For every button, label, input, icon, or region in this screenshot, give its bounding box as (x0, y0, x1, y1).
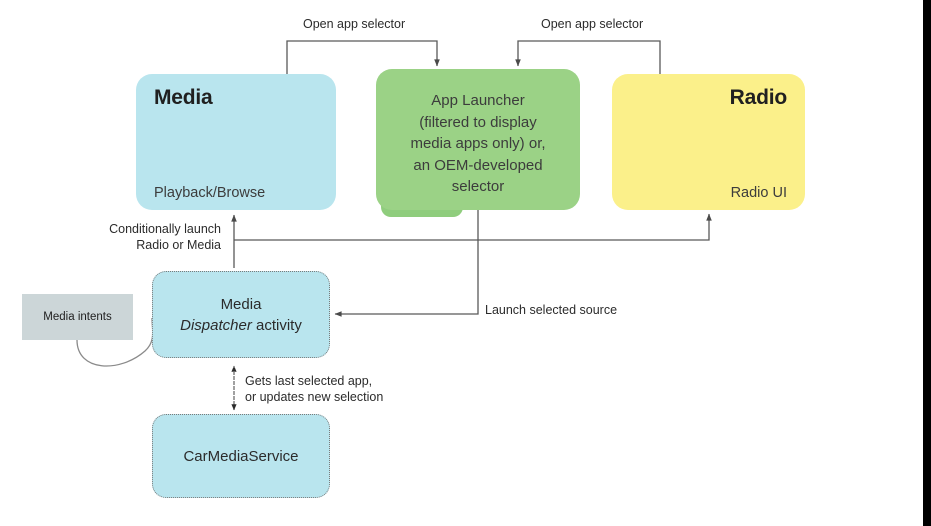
diagram-canvas: Media App Selector button Playback/Brows… (0, 0, 931, 526)
label-gets-last-line-2: or updates new selection (245, 389, 383, 405)
node-car-media-service[interactable]: CarMediaService (152, 414, 330, 498)
dispatcher-line-1: Media (180, 294, 302, 315)
node-media-dispatcher-activity[interactable]: Media Dispatcher activity (152, 271, 330, 358)
label-open-app-selector-right: Open app selector (541, 17, 643, 33)
node-app-launcher[interactable]: App Launcher (filtered to display media … (376, 69, 580, 210)
radio-title: Radio (730, 86, 787, 110)
node-radio-app[interactable]: App Selector button Radio Radio UI (612, 74, 805, 210)
label-conditionally-launch-line-1: Conditionally launch (16, 221, 221, 237)
radio-footer-label: Radio UI (731, 185, 787, 201)
launcher-line-5: selector (384, 176, 572, 198)
launcher-description: App Launcher (filtered to display media … (384, 90, 572, 198)
launcher-line-1: App Launcher (384, 90, 572, 112)
launcher-line-2: (filtered to display (384, 112, 572, 134)
media-footer-label: Playback/Browse (154, 185, 265, 201)
label-gets-last-line-1: Gets last selected app, (245, 373, 383, 389)
dispatcher-italic-word: Dispatcher (180, 317, 252, 334)
right-edge-band (923, 0, 931, 526)
media-title: Media (154, 86, 213, 110)
edge-launcher-to-dispatcher (335, 210, 478, 314)
edge-dispatcher-to-radio (234, 214, 709, 240)
launcher-line-3: media apps only) or, (384, 133, 572, 155)
label-conditionally-launch: Conditionally launch Radio or Media (16, 221, 221, 253)
media-intents-label: Media intents (43, 311, 111, 323)
label-conditionally-launch-line-2: Radio or Media (16, 237, 221, 253)
dispatcher-activity-word: activity (252, 317, 302, 334)
car-media-service-label: CarMediaService (183, 448, 298, 465)
dispatcher-line-2: Dispatcher activity (180, 315, 302, 336)
label-open-app-selector-left: Open app selector (303, 17, 405, 33)
node-media-intents[interactable]: Media intents (22, 294, 133, 340)
node-media-app[interactable]: Media App Selector button Playback/Brows… (136, 74, 336, 210)
label-launch-selected-source: Launch selected source (485, 303, 617, 319)
label-gets-last-selected-app: Gets last selected app, or updates new s… (245, 373, 383, 405)
launcher-line-4: an OEM-developed (384, 155, 572, 177)
